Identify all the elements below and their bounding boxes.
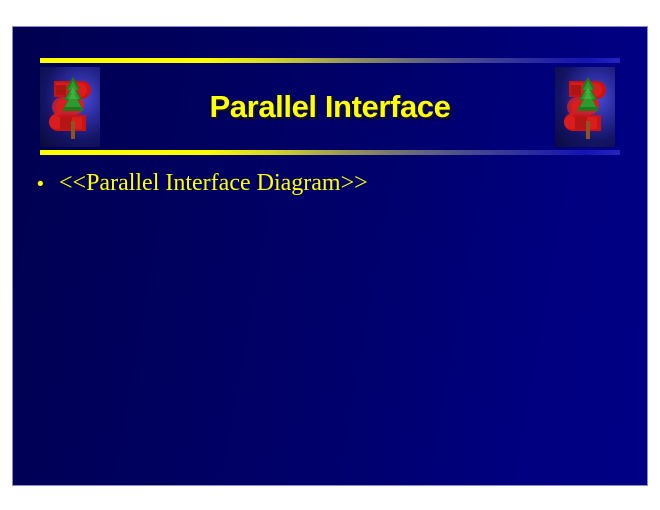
stanford-tree-logo-right [555,67,615,147]
title-rule-top [40,58,620,63]
title-rule-bottom [40,150,620,155]
stanford-tree-icon [40,67,100,147]
slide-canvas: Parallel Interface [13,27,647,485]
bullet-text: <<Parallel Interface Diagram>> [59,168,368,198]
page-title: Parallel Interface [113,89,547,125]
slide-page: Parallel Interface [0,0,660,510]
title-band: Parallel Interface [13,27,647,159]
slide-body: • <<Parallel Interface Diagram>> [13,159,647,485]
stanford-tree-icon [555,67,615,147]
bullet-marker: • [37,172,59,198]
list-item: • <<Parallel Interface Diagram>> [37,168,368,198]
stanford-tree-logo-left [40,67,100,147]
